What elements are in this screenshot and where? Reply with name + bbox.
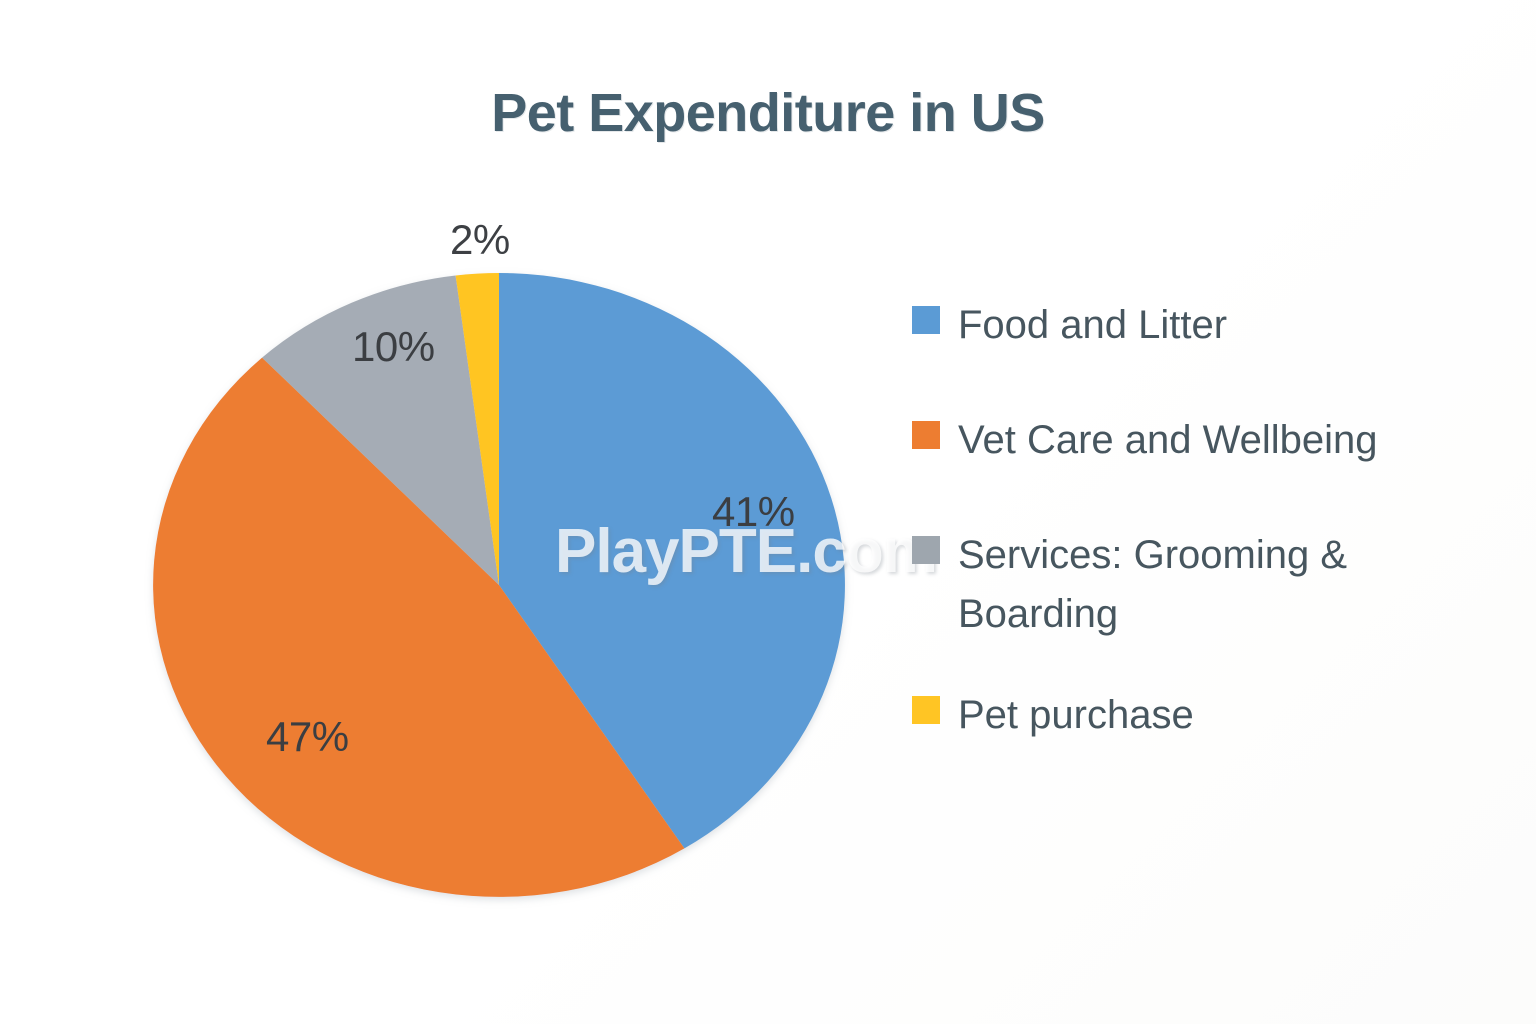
legend-swatch-icon-vet-care-and-wellbeing — [912, 421, 940, 449]
pie-svg — [152, 273, 846, 915]
legend-item-vet-care-and-wellbeing[interactable]: Vet Care and Wellbeing — [912, 411, 1472, 470]
legend-label-food-and-litter: Food and Litter — [958, 296, 1227, 355]
legend-item-pet-purchase[interactable]: Pet purchase — [912, 686, 1472, 745]
data-label-vet-care-and-wellbeing: 47% — [266, 713, 349, 761]
legend-swatch-icon-food-and-litter — [912, 306, 940, 334]
legend-swatch-icon-pet-purchase — [912, 696, 940, 724]
legend-swatch-icon-services-grooming-and-boarding — [912, 536, 940, 564]
pie-plot-area — [152, 273, 846, 915]
legend-item-food-and-litter[interactable]: Food and Litter — [912, 296, 1472, 355]
chart-legend: Food and Litter Vet Care and Wellbeing S… — [912, 296, 1472, 785]
data-label-pet-purchase: 2% — [450, 216, 510, 264]
data-label-food-and-litter: 41% — [712, 488, 795, 536]
pie-chart-figure: Pet Expenditure in US 41% 47% 10% — [0, 0, 1536, 1024]
legend-label-vet-care-and-wellbeing: Vet Care and Wellbeing — [958, 411, 1378, 470]
legend-label-pet-purchase: Pet purchase — [958, 686, 1194, 745]
legend-label-services-grooming-and-boarding: Services: Grooming & Boarding — [958, 526, 1428, 644]
data-label-services-grooming-and-boarding: 10% — [352, 323, 435, 371]
chart-title: Pet Expenditure in US — [0, 82, 1536, 144]
legend-item-services-grooming-and-boarding[interactable]: Services: Grooming & Boarding — [912, 526, 1472, 644]
